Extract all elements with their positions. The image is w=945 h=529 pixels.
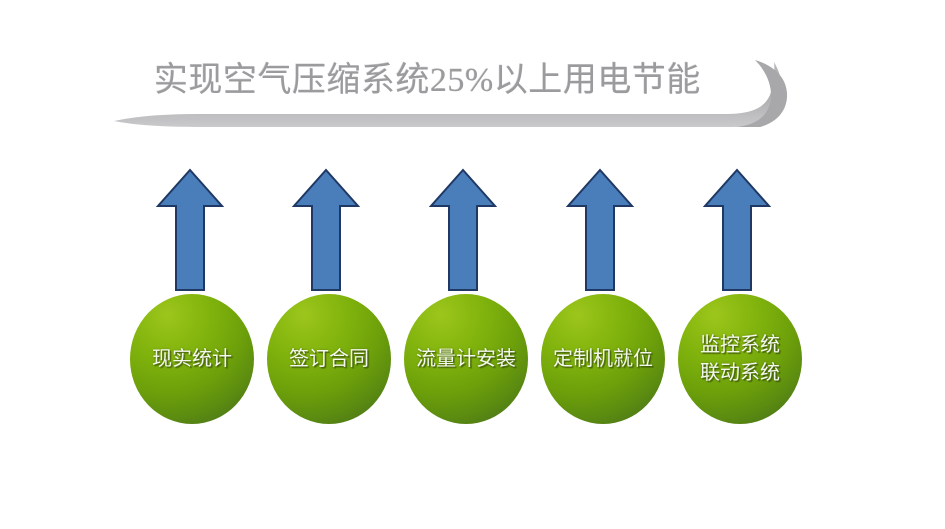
process-node-group: 现实统计 签订合同 流量计安装 定制机就位 监控系统 联动系统	[130, 294, 810, 429]
up-arrow-icon	[290, 166, 362, 294]
up-arrow-icon	[701, 166, 773, 294]
process-node-4[interactable]: 定制机就位	[541, 294, 665, 424]
page-title: 实现空气压缩系统25%以上用电节能	[154, 50, 774, 112]
process-node-3[interactable]: 流量计安装	[404, 294, 528, 424]
slide-canvas: 实现空气压缩系统25%以上用电节能	[0, 0, 945, 529]
process-node-2[interactable]: 签订合同	[267, 294, 391, 424]
title-banner: 实现空气压缩系统25%以上用电节能	[112, 38, 812, 138]
up-arrow-icon	[154, 166, 226, 294]
process-node-label: 监控系统 联动系统	[666, 294, 814, 424]
process-node-label: 现实统计	[118, 294, 266, 424]
process-node-label: 流量计安装	[392, 294, 540, 424]
up-arrow-icon	[427, 166, 499, 294]
process-node-label: 定制机就位	[529, 294, 677, 424]
process-node-5[interactable]: 监控系统 联动系统	[678, 294, 802, 424]
arrow-group	[140, 166, 780, 296]
process-node-label: 签订合同	[255, 294, 403, 424]
process-node-1[interactable]: 现实统计	[130, 294, 254, 424]
up-arrow-icon	[564, 166, 636, 294]
